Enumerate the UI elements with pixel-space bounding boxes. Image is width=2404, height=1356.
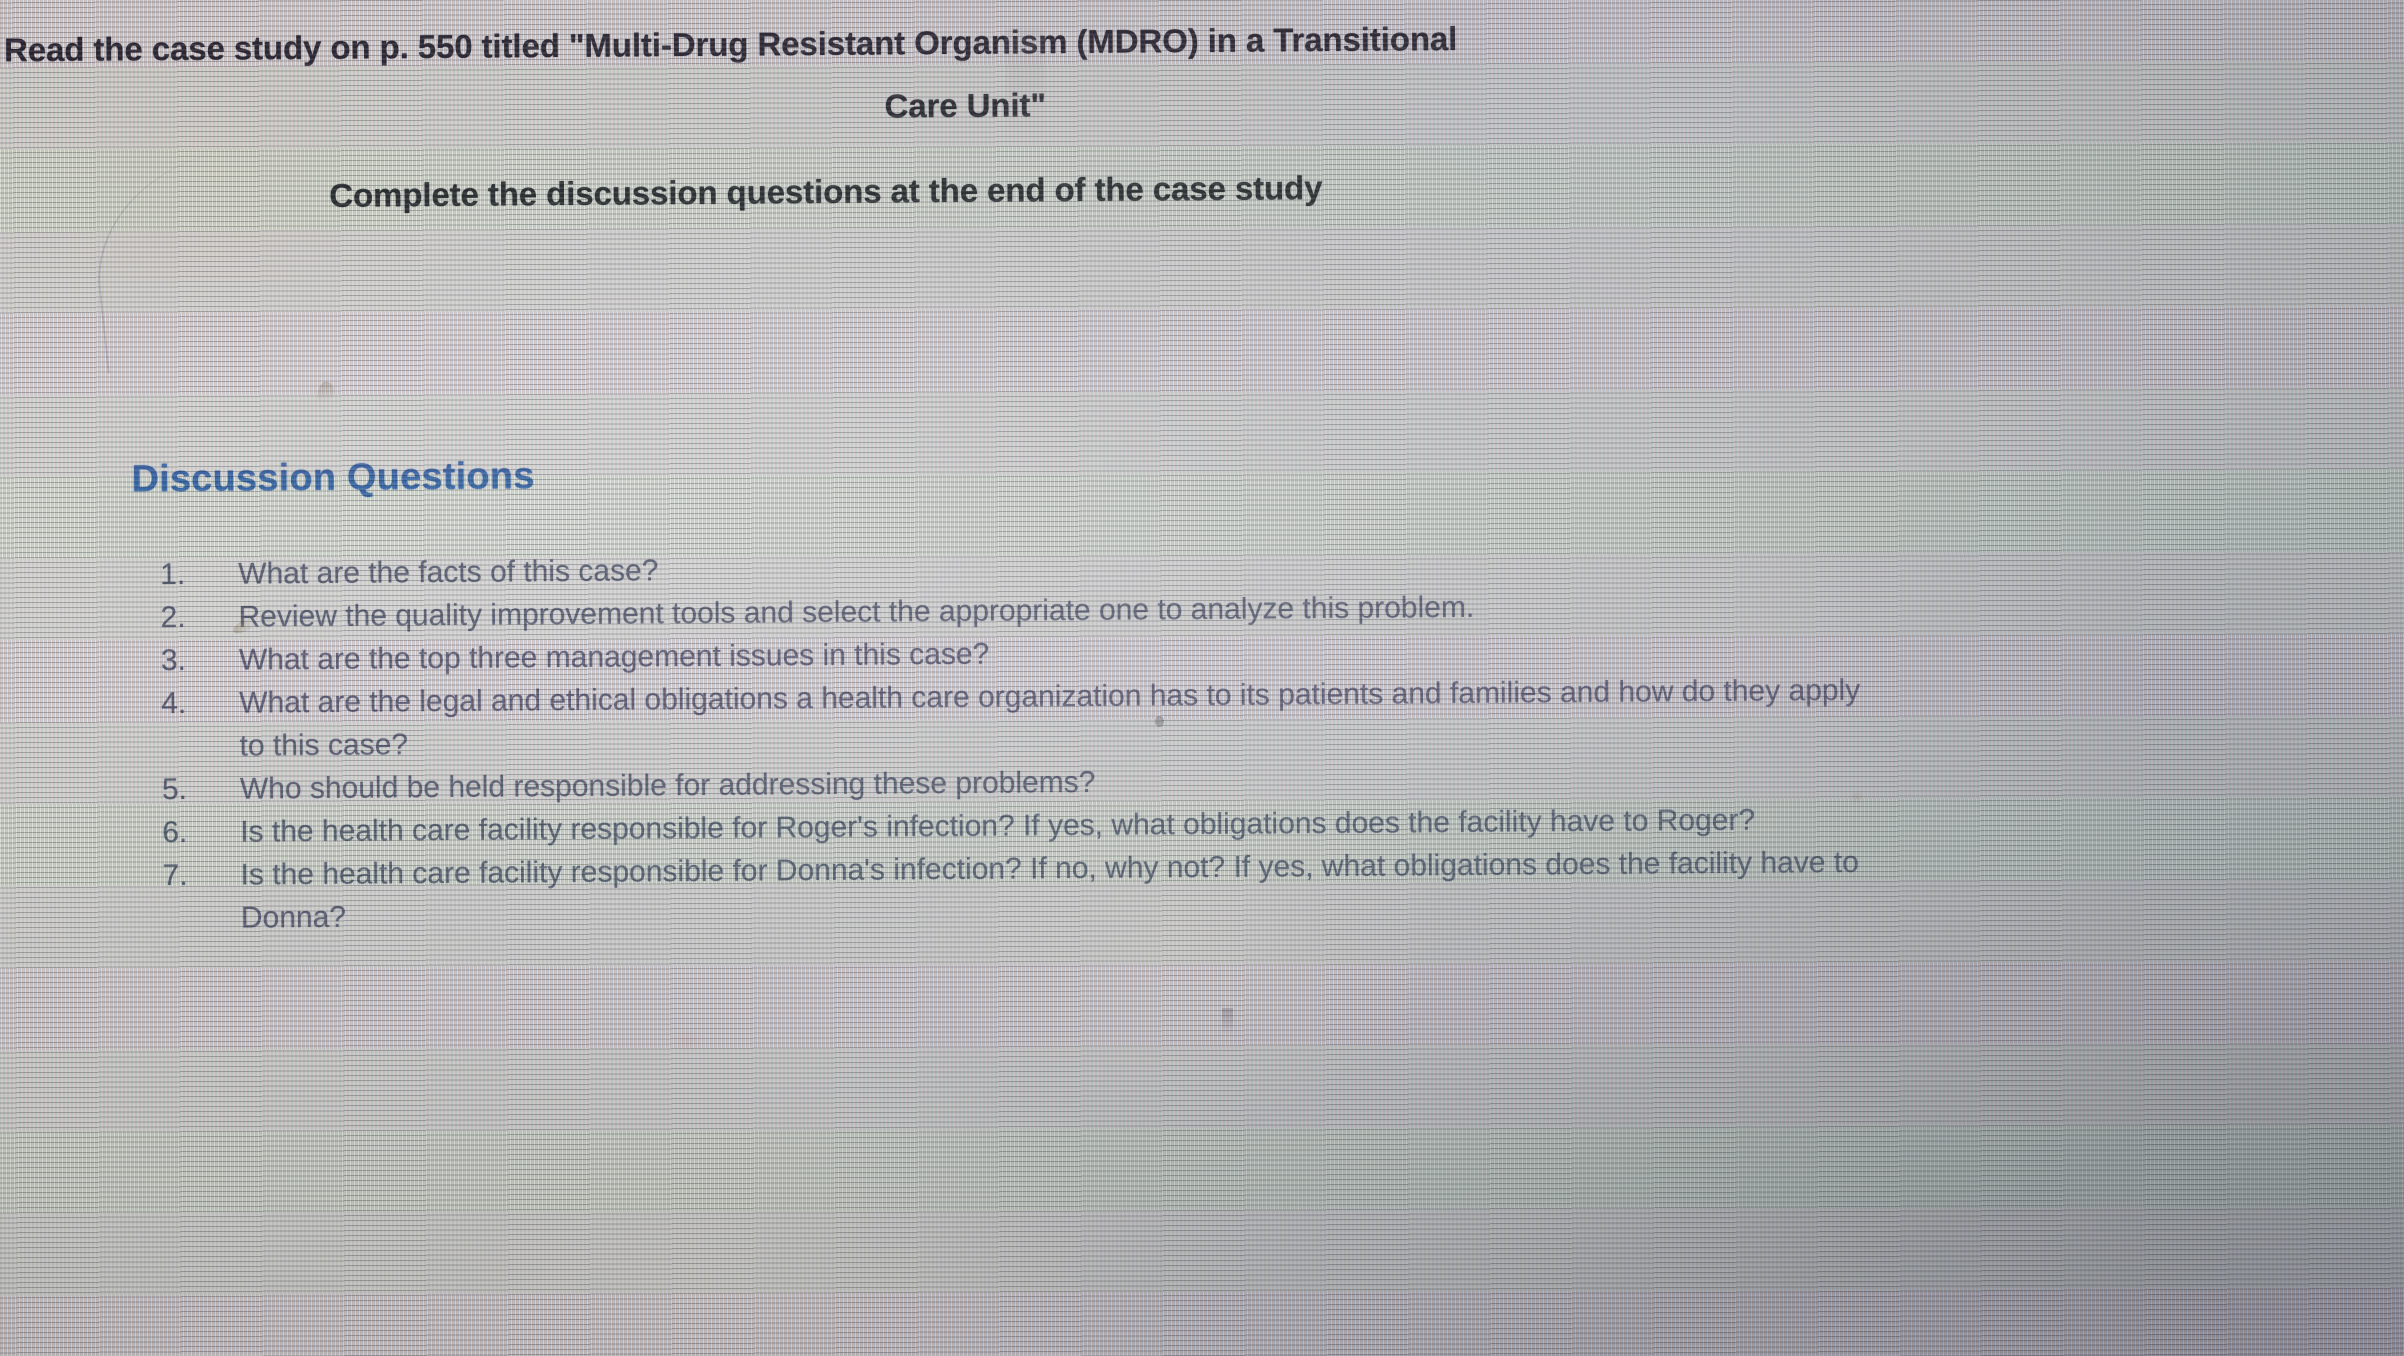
- document-content: Read the case study on p. 550 titled "Mu…: [0, 0, 2404, 1356]
- monitor-photo-screenshot: Read the case study on p. 550 titled "Mu…: [0, 0, 2404, 1356]
- list-item-text: What are the legal and ethical obligatio…: [239, 669, 1882, 768]
- list-item: 7. Is the health care facility responsib…: [162, 841, 1883, 941]
- list-item-number: 5.: [162, 768, 240, 812]
- list-item-text: Is the health care facility responsible …: [240, 841, 1883, 940]
- list-item-number: 4.: [161, 682, 239, 726]
- list-item-number: 3.: [161, 639, 239, 683]
- list-item-number: 1.: [160, 553, 238, 597]
- discussion-questions-heading: Discussion Questions: [131, 455, 534, 501]
- instruction-line-1: Read the case study on p. 550 titled "Mu…: [4, 20, 1457, 69]
- discussion-questions-list: 1. What are the facts of this case? 2. R…: [160, 540, 1883, 940]
- list-item-number: 2.: [160, 596, 238, 640]
- list-item-number: 7.: [162, 854, 240, 898]
- instruction-line-2: Care Unit": [884, 86, 1046, 125]
- list-item-number: 6.: [162, 811, 240, 855]
- instruction-line-3: Complete the discussion questions at the…: [329, 169, 1322, 215]
- list-item: 4. What are the legal and ethical obliga…: [161, 669, 1882, 769]
